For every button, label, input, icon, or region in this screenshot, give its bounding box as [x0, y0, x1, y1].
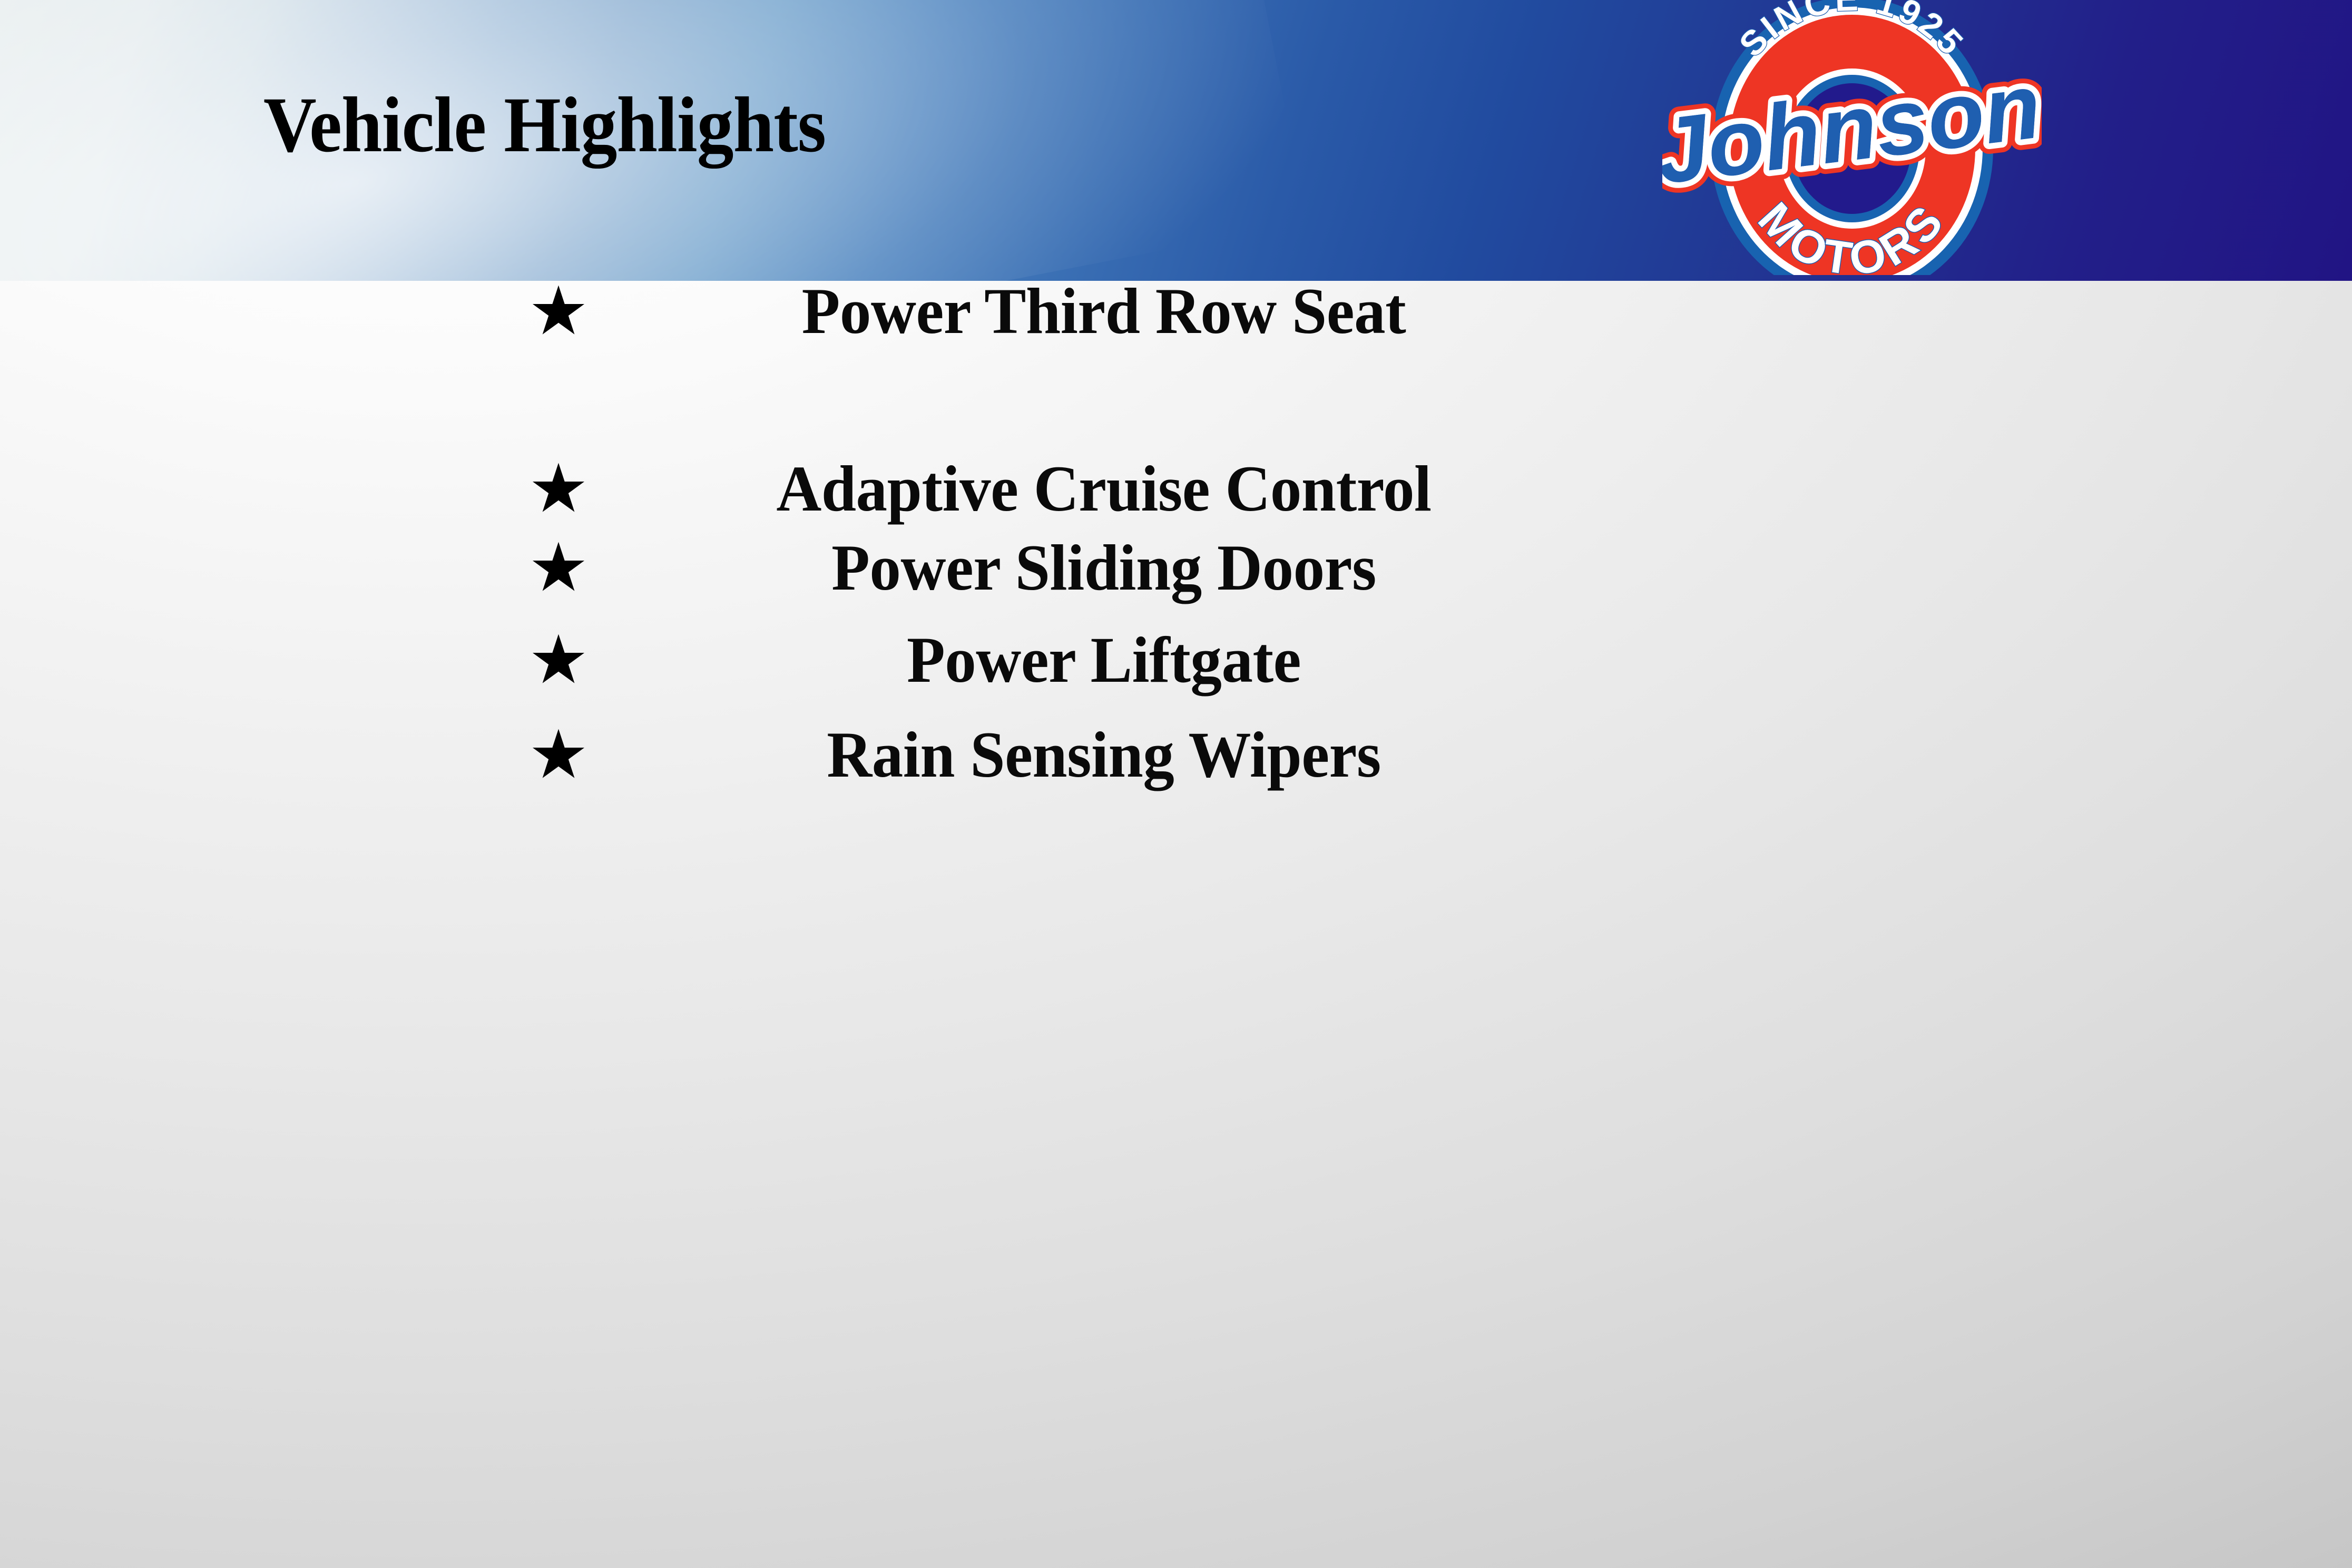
star-bullet-icon: ★ [527, 278, 590, 345]
list-item: ★ Power Sliding Doors [0, 526, 2352, 610]
feature-label: Adaptive Cruise Control [616, 455, 1592, 523]
star-bullet-icon: ★ [527, 626, 590, 694]
list-item: ★ Adaptive Cruise Control [0, 447, 2352, 531]
feature-label: Power Third Row Seat [616, 277, 1592, 346]
list-item: ★ Power Liftgate [0, 618, 2352, 702]
star-bullet-icon: ★ [527, 455, 590, 523]
page-title: Vehicle Highlights [263, 85, 826, 164]
feature-label: Power Liftgate [616, 626, 1592, 694]
list-item: ★ Power Third Row Seat [0, 269, 2352, 354]
star-bullet-icon: ★ [527, 721, 590, 789]
johnson-motors-logo: SINCE 1925 MOTORS Johnson Johnson Johnso… [1662, 0, 2042, 275]
feature-label: Power Sliding Doors [616, 534, 1592, 602]
vehicle-highlights-list: ★ Power Third Row Seat ★ Adaptive Cruise… [0, 281, 2352, 1568]
feature-label: Rain Sensing Wipers [616, 721, 1592, 789]
slide-canvas: Vehicle Highlights SINCE 1925 [0, 0, 2352, 1568]
list-item: ★ Rain Sensing Wipers [0, 713, 2352, 797]
star-bullet-icon: ★ [527, 534, 590, 602]
